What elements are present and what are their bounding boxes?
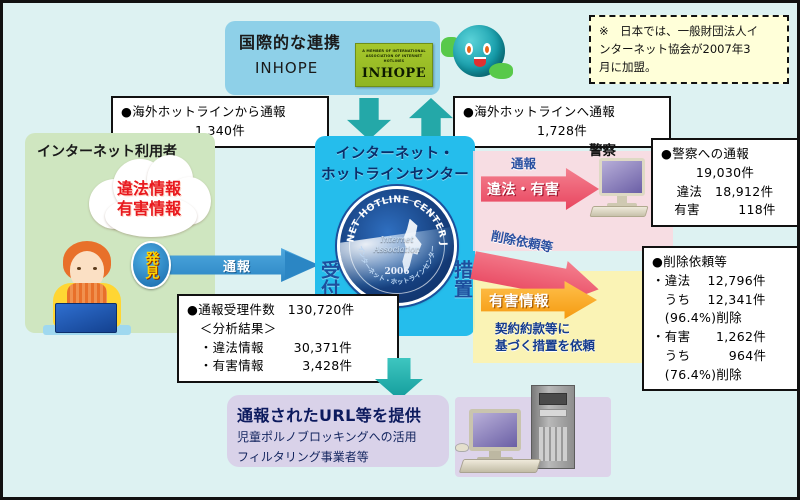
hotline-center-title-line1: インターネット・ bbox=[315, 144, 475, 165]
hotline-center-title: インターネット・ ホットラインセンター bbox=[315, 144, 475, 186]
red-arrow-caption: 通報 bbox=[511, 153, 536, 172]
callout-stats-line-2: ・違法情報 30,371件 bbox=[187, 339, 389, 358]
seal-inner-line2: Association bbox=[340, 245, 454, 255]
report-arrow-label: 通報 bbox=[223, 256, 251, 275]
callout-police-title: ●警察への通報 bbox=[661, 145, 789, 164]
callout-deletion-line-5: うち 964件 bbox=[652, 347, 789, 366]
footnote-box: ※ 日本では、一般財団法人イ ンターネット協会が2007年3 月に加盟。 bbox=[589, 15, 789, 84]
arrow-down-to-center-icon bbox=[347, 98, 391, 140]
callout-police-line-1: 19,030件 bbox=[661, 164, 789, 183]
callout-report-statistics: ●通報受理件数 130,720件 ＜分析結果＞ ・違法情報 30,371件 ・有… bbox=[177, 294, 399, 383]
callout-police-line-2: 違法 18,912件 bbox=[661, 183, 789, 202]
callout-from-overseas-title: ●海外ホットラインから通報 bbox=[121, 103, 319, 122]
footnote-line-3: 月に加盟。 bbox=[599, 59, 779, 77]
cloud-line-2: 有害情報 bbox=[85, 199, 213, 219]
callout-deletion-line-2: うち 12,341件 bbox=[652, 291, 789, 310]
arrow-up-to-inhope-icon bbox=[409, 98, 453, 140]
international-title: 国際的な連携 bbox=[239, 29, 341, 53]
discovery-badge-label: 発見 bbox=[144, 251, 159, 279]
cloud-text: 違法情報 有害情報 bbox=[85, 179, 213, 219]
callout-deletion-line-4: ・有害 1,262件 bbox=[652, 328, 789, 347]
callout-deletion-requests: ●削除依頼等 ・違法 12,796件 うち 12,341件 (96.4%)削除 … bbox=[642, 246, 799, 391]
hotline-center-seal-logo: INTERNET HOTLINE CENTER JAPAN インターネット・ホッ… bbox=[337, 186, 457, 306]
desktop-computer-icon bbox=[455, 383, 615, 488]
contract-measure-note: 契約約款等に 基づく措置を依頼 bbox=[495, 321, 595, 355]
inhope-logo-name: INHOPE bbox=[362, 66, 426, 81]
inhope-logo-smalltext: A MEMBER OF INTERNATIONAL ASSOCIATION OF… bbox=[356, 49, 432, 64]
contract-measure-line2: 基づく措置を依頼 bbox=[495, 338, 595, 355]
callout-deletion-line-3: (96.4%)削除 bbox=[652, 309, 789, 328]
international-subtitle: INHOPE bbox=[255, 59, 318, 77]
callout-to-overseas-title: ●海外ホットラインへ通報 bbox=[463, 103, 661, 122]
globe-mascot-icon bbox=[443, 19, 513, 89]
callout-deletion-line-6: (76.4%)削除 bbox=[652, 366, 789, 385]
seal-inner-line1: Internet bbox=[340, 235, 454, 245]
reception-label: 受付 bbox=[319, 260, 338, 298]
callout-police-reports: ●警察への通報 19,030件 違法 18,912件 有害 118件 bbox=[651, 138, 799, 227]
footnote-line-2: ンターネット協会が2007年3 bbox=[599, 41, 779, 59]
callout-stats-line-1: ＜分析結果＞ bbox=[187, 320, 389, 339]
measures-label: 措置 bbox=[452, 260, 471, 298]
seal-inner-text: Internet Association bbox=[340, 235, 454, 255]
harmful-info-arrow-label: 有害情報 bbox=[489, 290, 549, 311]
internet-user-illustration bbox=[41, 241, 133, 333]
discovery-badge: 発見 bbox=[131, 241, 171, 289]
contract-measure-line1: 契約約款等に bbox=[495, 321, 595, 338]
cloud-line-1: 違法情報 bbox=[85, 179, 213, 199]
callout-deletion-title: ●削除依頼等 bbox=[652, 253, 789, 272]
callout-to-overseas: ●海外ホットラインへ通報 1,728件 bbox=[453, 96, 671, 148]
inhope-logo-icon: A MEMBER OF INTERNATIONAL ASSOCIATION OF… bbox=[355, 43, 433, 87]
illegal-harmful-arrow-label: 違法・有害 bbox=[487, 179, 560, 199]
illegal-harmful-info-cloud: 違法情報 有害情報 bbox=[85, 153, 213, 241]
url-provision-sub-1: 児童ポルノブロッキングへの活用 bbox=[237, 429, 439, 446]
callout-deletion-line-1: ・違法 12,796件 bbox=[652, 272, 789, 291]
police-monitor-icon bbox=[591, 158, 653, 220]
diagram-canvas: ※ 日本では、一般財団法人イ ンターネット協会が2007年3 月に加盟。 国際的… bbox=[0, 0, 800, 500]
callout-to-overseas-value: 1,728件 bbox=[463, 122, 661, 141]
footnote-line-1: ※ 日本では、一般財団法人イ bbox=[599, 23, 779, 41]
arrow-into-center-icon bbox=[285, 251, 319, 279]
url-provision-sub-2: フィルタリング事業者等 bbox=[237, 449, 439, 466]
police-label: 警察 bbox=[589, 139, 616, 159]
hotline-center-title-line2: ホットラインセンター bbox=[315, 165, 475, 186]
url-provision-heading: 通報されたURL等を提供 bbox=[237, 402, 439, 426]
callout-stats-title: ●通報受理件数 130,720件 bbox=[187, 301, 389, 320]
url-provision-box: 通報されたURL等を提供 児童ポルノブロッキングへの活用 フィルタリング事業者等 bbox=[227, 395, 449, 467]
callout-police-line-3: 有害 118件 bbox=[661, 201, 789, 220]
callout-stats-line-3: ・有害情報 3,428件 bbox=[187, 357, 389, 376]
seal-year: 2006 bbox=[340, 267, 454, 277]
